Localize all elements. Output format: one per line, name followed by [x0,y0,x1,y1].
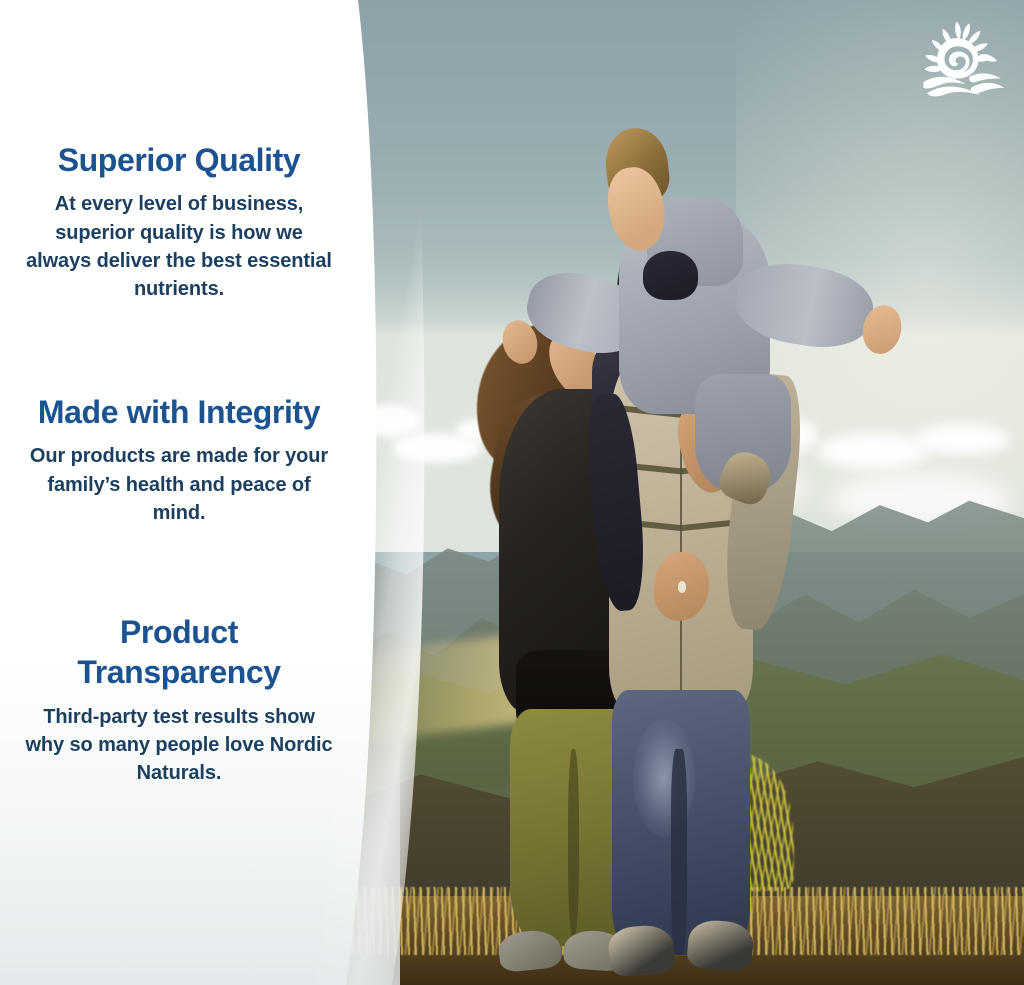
man-shoe-left [607,923,676,978]
child-collar [643,251,698,300]
man-leg-gap [671,749,687,956]
value-heading: Superior Quality [22,140,336,180]
woman-leg-gap [568,749,579,936]
family-mountain-photo [338,0,1024,985]
family-figures [338,0,1024,985]
sun-wave-logo-icon [916,16,1008,108]
value-body: At every level of business, superior qua… [22,190,336,304]
value-heading: Made with Integrity [22,392,336,432]
value-body: Third-party test results show why so man… [22,703,336,788]
photo-inner [338,0,1024,985]
value-block-product-transparency: Product Transparency Third-party test re… [0,612,358,788]
value-block-superior-quality: Superior Quality At every level of busin… [0,140,358,304]
value-body: Our products are made for your family’s … [22,442,336,527]
brand-values-poster: Superior Quality At every level of busin… [0,0,1024,985]
value-block-made-with-integrity: Made with Integrity Our products are mad… [0,392,358,527]
value-blocks: Superior Quality At every level of busin… [0,0,358,985]
value-heading: Product Transparency [22,612,336,693]
